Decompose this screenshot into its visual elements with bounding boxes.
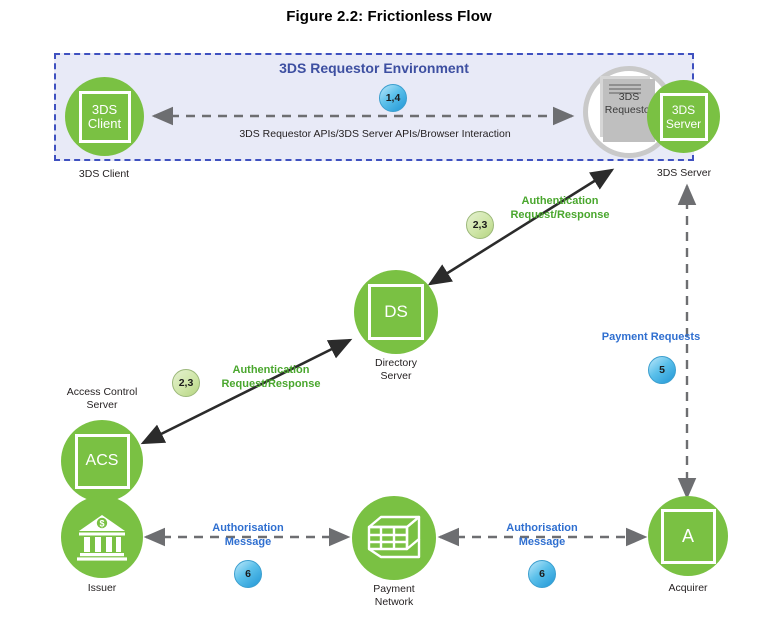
authorisation-right-line1: Authorisation	[476, 521, 608, 535]
node-directory-server-label: Directory Server	[336, 357, 456, 383]
node-directory-server[interactable]: DS	[354, 270, 438, 354]
acs-badge: ACS	[75, 434, 130, 489]
label-authorisation-left: Authorisation Message	[182, 521, 314, 549]
3ds-client-abbr-line1: 3DS	[92, 103, 117, 117]
auth-server-ds-line1: Authentication	[485, 194, 635, 208]
node-payment-network-label: Payment Network	[334, 583, 454, 609]
node-acquirer[interactable]: A	[648, 496, 728, 576]
node-payment-network[interactable]	[352, 496, 436, 580]
3ds-client-badge: 3DS Client	[79, 91, 131, 143]
node-3ds-server[interactable]: 3DS Server	[647, 80, 720, 153]
auth-ds-acs-line2: Request/Response	[196, 377, 346, 391]
badge-auth-server-ds: 2,3	[466, 211, 494, 239]
requestor-environment-title: 3DS Requestor Environment	[54, 60, 694, 76]
directory-server-badge: DS	[368, 284, 424, 340]
payment-network-label-line1: Payment	[334, 583, 454, 596]
3ds-server-abbr-line1: 3DS	[672, 103, 695, 117]
bank-icon: $ $	[75, 513, 129, 561]
node-acs-label: Access Control Server	[42, 386, 162, 412]
3ds-client-abbr-line2: Client	[88, 117, 121, 131]
acs-label-line1: Access Control	[42, 386, 162, 399]
auth-ds-acs-line1: Authentication	[196, 363, 346, 377]
badge-requestor-apis: 1,4	[379, 84, 407, 112]
flow-auth-server-ds	[430, 170, 612, 284]
badge-auth-ds-acs: 2,3	[172, 369, 200, 397]
badge-payment-requests: 5	[648, 356, 676, 384]
label-auth-server-ds: Authentication Request/Response	[485, 194, 635, 222]
acquirer-abbr: A	[682, 529, 694, 543]
svg-text:$: $	[99, 518, 104, 528]
acs-abbr: ACS	[86, 454, 119, 468]
authorisation-left-line1: Authorisation	[182, 521, 314, 535]
figure-canvas: Figure 2.2: Frictionless Flow 3DS Reques…	[0, 0, 778, 618]
auth-server-ds-line2: Request/Response	[485, 208, 635, 222]
label-authorisation-right: Authorisation Message	[476, 521, 608, 549]
directory-server-abbr: DS	[384, 305, 408, 319]
3ds-server-abbr-line2: Server	[666, 117, 701, 131]
network-cube-icon	[365, 513, 423, 563]
badge-authorisation-left: 6	[234, 560, 262, 588]
node-acs[interactable]: ACS	[61, 420, 143, 502]
node-3ds-server-label: 3DS Server	[624, 167, 744, 180]
node-acquirer-label: Acquirer	[628, 582, 748, 595]
authorisation-right-line2: Message	[476, 535, 608, 549]
label-auth-ds-acs: Authentication Request/Response	[196, 363, 346, 391]
page-title: Figure 2.2: Frictionless Flow	[0, 8, 778, 25]
3ds-server-badge: 3DS Server	[660, 93, 708, 141]
authorisation-left-line2: Message	[182, 535, 314, 549]
acs-label-line2: Server	[42, 399, 162, 412]
node-3ds-client-label: 3DS Client	[44, 168, 164, 181]
node-issuer-label: Issuer	[42, 582, 162, 595]
directory-server-label-line1: Directory	[336, 357, 456, 370]
node-3ds-client[interactable]: 3DS Client	[65, 77, 144, 156]
badge-authorisation-right: 6	[528, 560, 556, 588]
acquirer-badge: A	[661, 509, 716, 564]
node-issuer[interactable]: $ $	[61, 496, 143, 578]
label-payment-requests: Payment Requests	[566, 330, 736, 344]
payment-network-label-line2: Network	[334, 596, 454, 609]
directory-server-label-line2: Server	[336, 370, 456, 383]
requestor-apis-label: 3DS Requestor APIs/3DS Server APIs/Brows…	[150, 128, 600, 140]
